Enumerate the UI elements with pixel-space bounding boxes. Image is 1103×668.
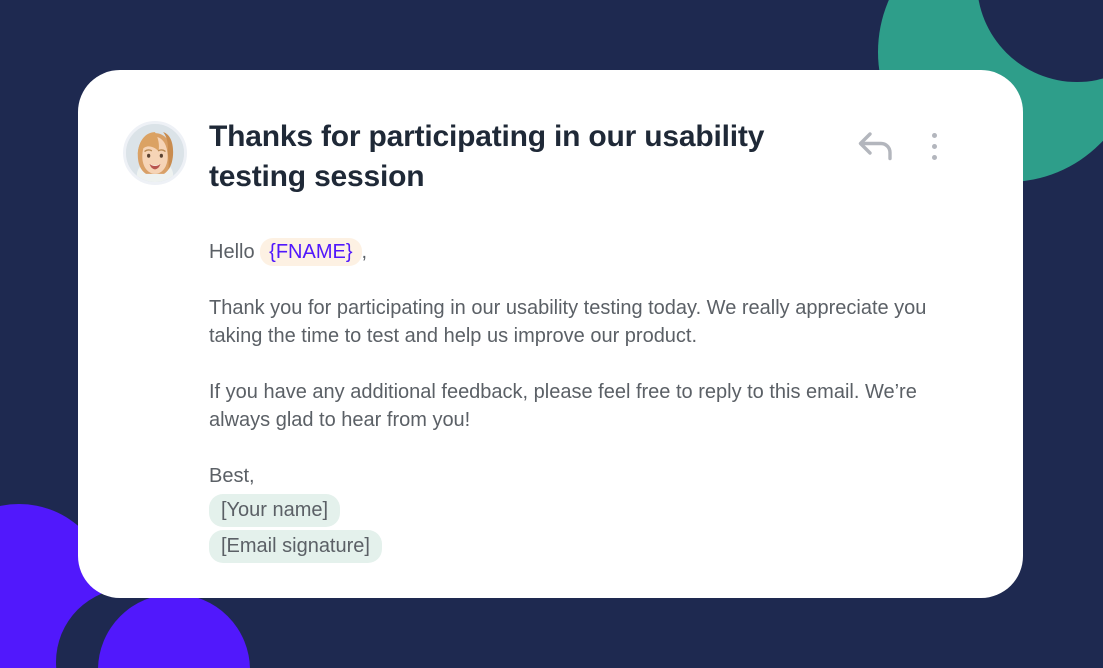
more-dot bbox=[932, 144, 937, 149]
body-paragraph-1: Thank you for participating in our usabi… bbox=[209, 294, 968, 350]
signature-closing: Best, bbox=[209, 462, 968, 491]
avatar bbox=[123, 121, 187, 185]
signature-signature-row: [Email signature] bbox=[209, 527, 968, 563]
email-actions bbox=[856, 115, 943, 163]
merge-token-fname[interactable]: {FNAME} bbox=[260, 238, 361, 266]
signature-name-row: [Your name] bbox=[209, 491, 968, 527]
merge-token-your-name[interactable]: [Your name] bbox=[209, 494, 340, 527]
email-preview-card: Thanks for participating in our usabilit… bbox=[78, 70, 1023, 598]
signature-block: Best, [Your name] [Email signature] bbox=[209, 462, 968, 563]
email-header: Thanks for participating in our usabilit… bbox=[123, 115, 968, 196]
more-options-icon[interactable] bbox=[926, 129, 943, 163]
greeting-line: Hello {FNAME}, bbox=[209, 238, 968, 266]
more-dot bbox=[932, 133, 937, 138]
reply-icon[interactable] bbox=[856, 129, 898, 163]
greeting-suffix: , bbox=[362, 241, 368, 263]
body-paragraph-2: If you have any additional feedback, ple… bbox=[209, 378, 968, 434]
merge-token-email-signature[interactable]: [Email signature] bbox=[209, 530, 382, 563]
page-title: Thanks for participating in our usabilit… bbox=[209, 115, 834, 196]
greeting-prefix: Hello bbox=[209, 241, 260, 263]
email-body: Hello {FNAME}, Thank you for participati… bbox=[123, 238, 968, 563]
more-dot bbox=[932, 155, 937, 160]
